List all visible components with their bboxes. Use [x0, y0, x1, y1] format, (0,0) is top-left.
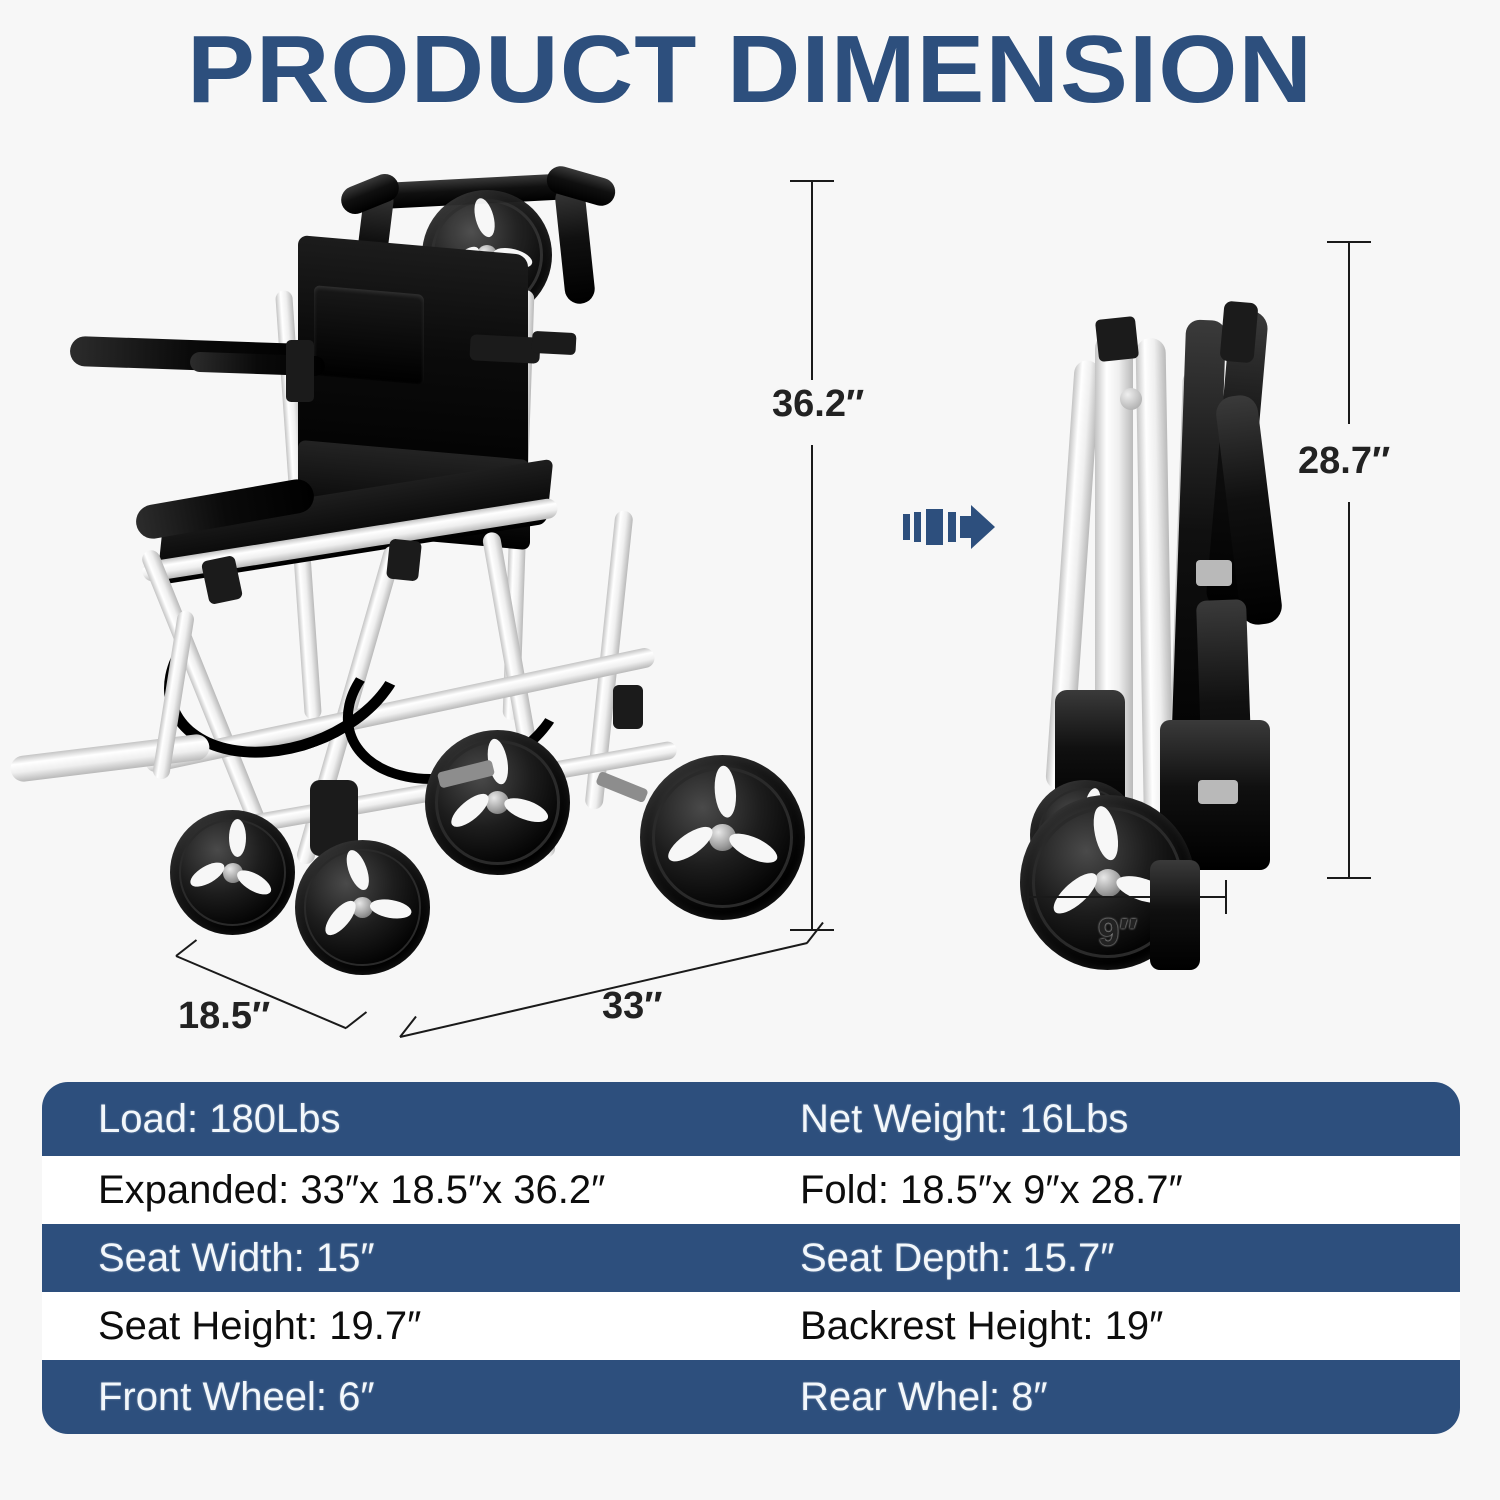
spec-front-wheel: Front Wheel: 6″	[42, 1375, 782, 1419]
table-row: Seat Height: 19.7″ Backrest Height: 19″	[42, 1292, 1460, 1360]
product-dimension-infographic: PRODUCT DIMENSION	[0, 0, 1500, 1500]
dimension-label-width-folded: 9″	[1098, 912, 1137, 955]
spec-net-weight: Net Weight: 16Lbs	[782, 1097, 1460, 1141]
table-row: Front Wheel: 6″ Rear Whel: 8″	[42, 1360, 1460, 1434]
spec-load: Load: 180Lbs	[42, 1097, 782, 1141]
dimension-label-height-folded: 28.7″	[1298, 440, 1390, 483]
specification-table: Load: 180Lbs Net Weight: 16Lbs Expanded:…	[42, 1082, 1460, 1434]
footrest	[9, 733, 211, 783]
page-title: PRODUCT DIMENSION	[0, 18, 1500, 122]
spec-rear-wheel: Rear Whel: 8″	[782, 1375, 1460, 1419]
spec-fold: Fold: 18.5″x 9″x 28.7″	[782, 1168, 1460, 1212]
spec-expanded: Expanded: 33″x 18.5″x 36.2″	[42, 1168, 782, 1212]
dimension-label-width-expanded: 33″	[602, 985, 662, 1028]
fold-transform-arrow-icon	[903, 505, 995, 549]
illustration-stage: 36.2″ 18.5″ 33″ 9″ 28	[0, 140, 1500, 1070]
caster-wheel-rear-left	[170, 810, 295, 935]
spec-backrest-height: Backrest Height: 19″	[782, 1304, 1460, 1348]
table-row: Load: 180Lbs Net Weight: 16Lbs	[42, 1082, 1460, 1156]
rear-wheel-right	[640, 755, 805, 920]
rear-wheel-left	[425, 730, 570, 875]
spec-seat-height: Seat Height: 19.7″	[42, 1304, 782, 1348]
dimension-label-depth-expanded: 18.5″	[178, 995, 270, 1038]
caster-wheel-front	[295, 840, 430, 975]
spec-seat-depth: Seat Depth: 15.7″	[782, 1236, 1460, 1280]
spec-seat-width: Seat Width: 15″	[42, 1236, 782, 1280]
wheelchair-folded-view	[1000, 220, 1330, 1020]
table-row: Expanded: 33″x 18.5″x 36.2″ Fold: 18.5″x…	[42, 1156, 1460, 1224]
table-row: Seat Width: 15″ Seat Depth: 15.7″	[42, 1224, 1460, 1292]
wheelchair-expanded-side-view	[40, 140, 800, 1040]
dimension-label-height-expanded: 36.2″	[772, 383, 864, 426]
